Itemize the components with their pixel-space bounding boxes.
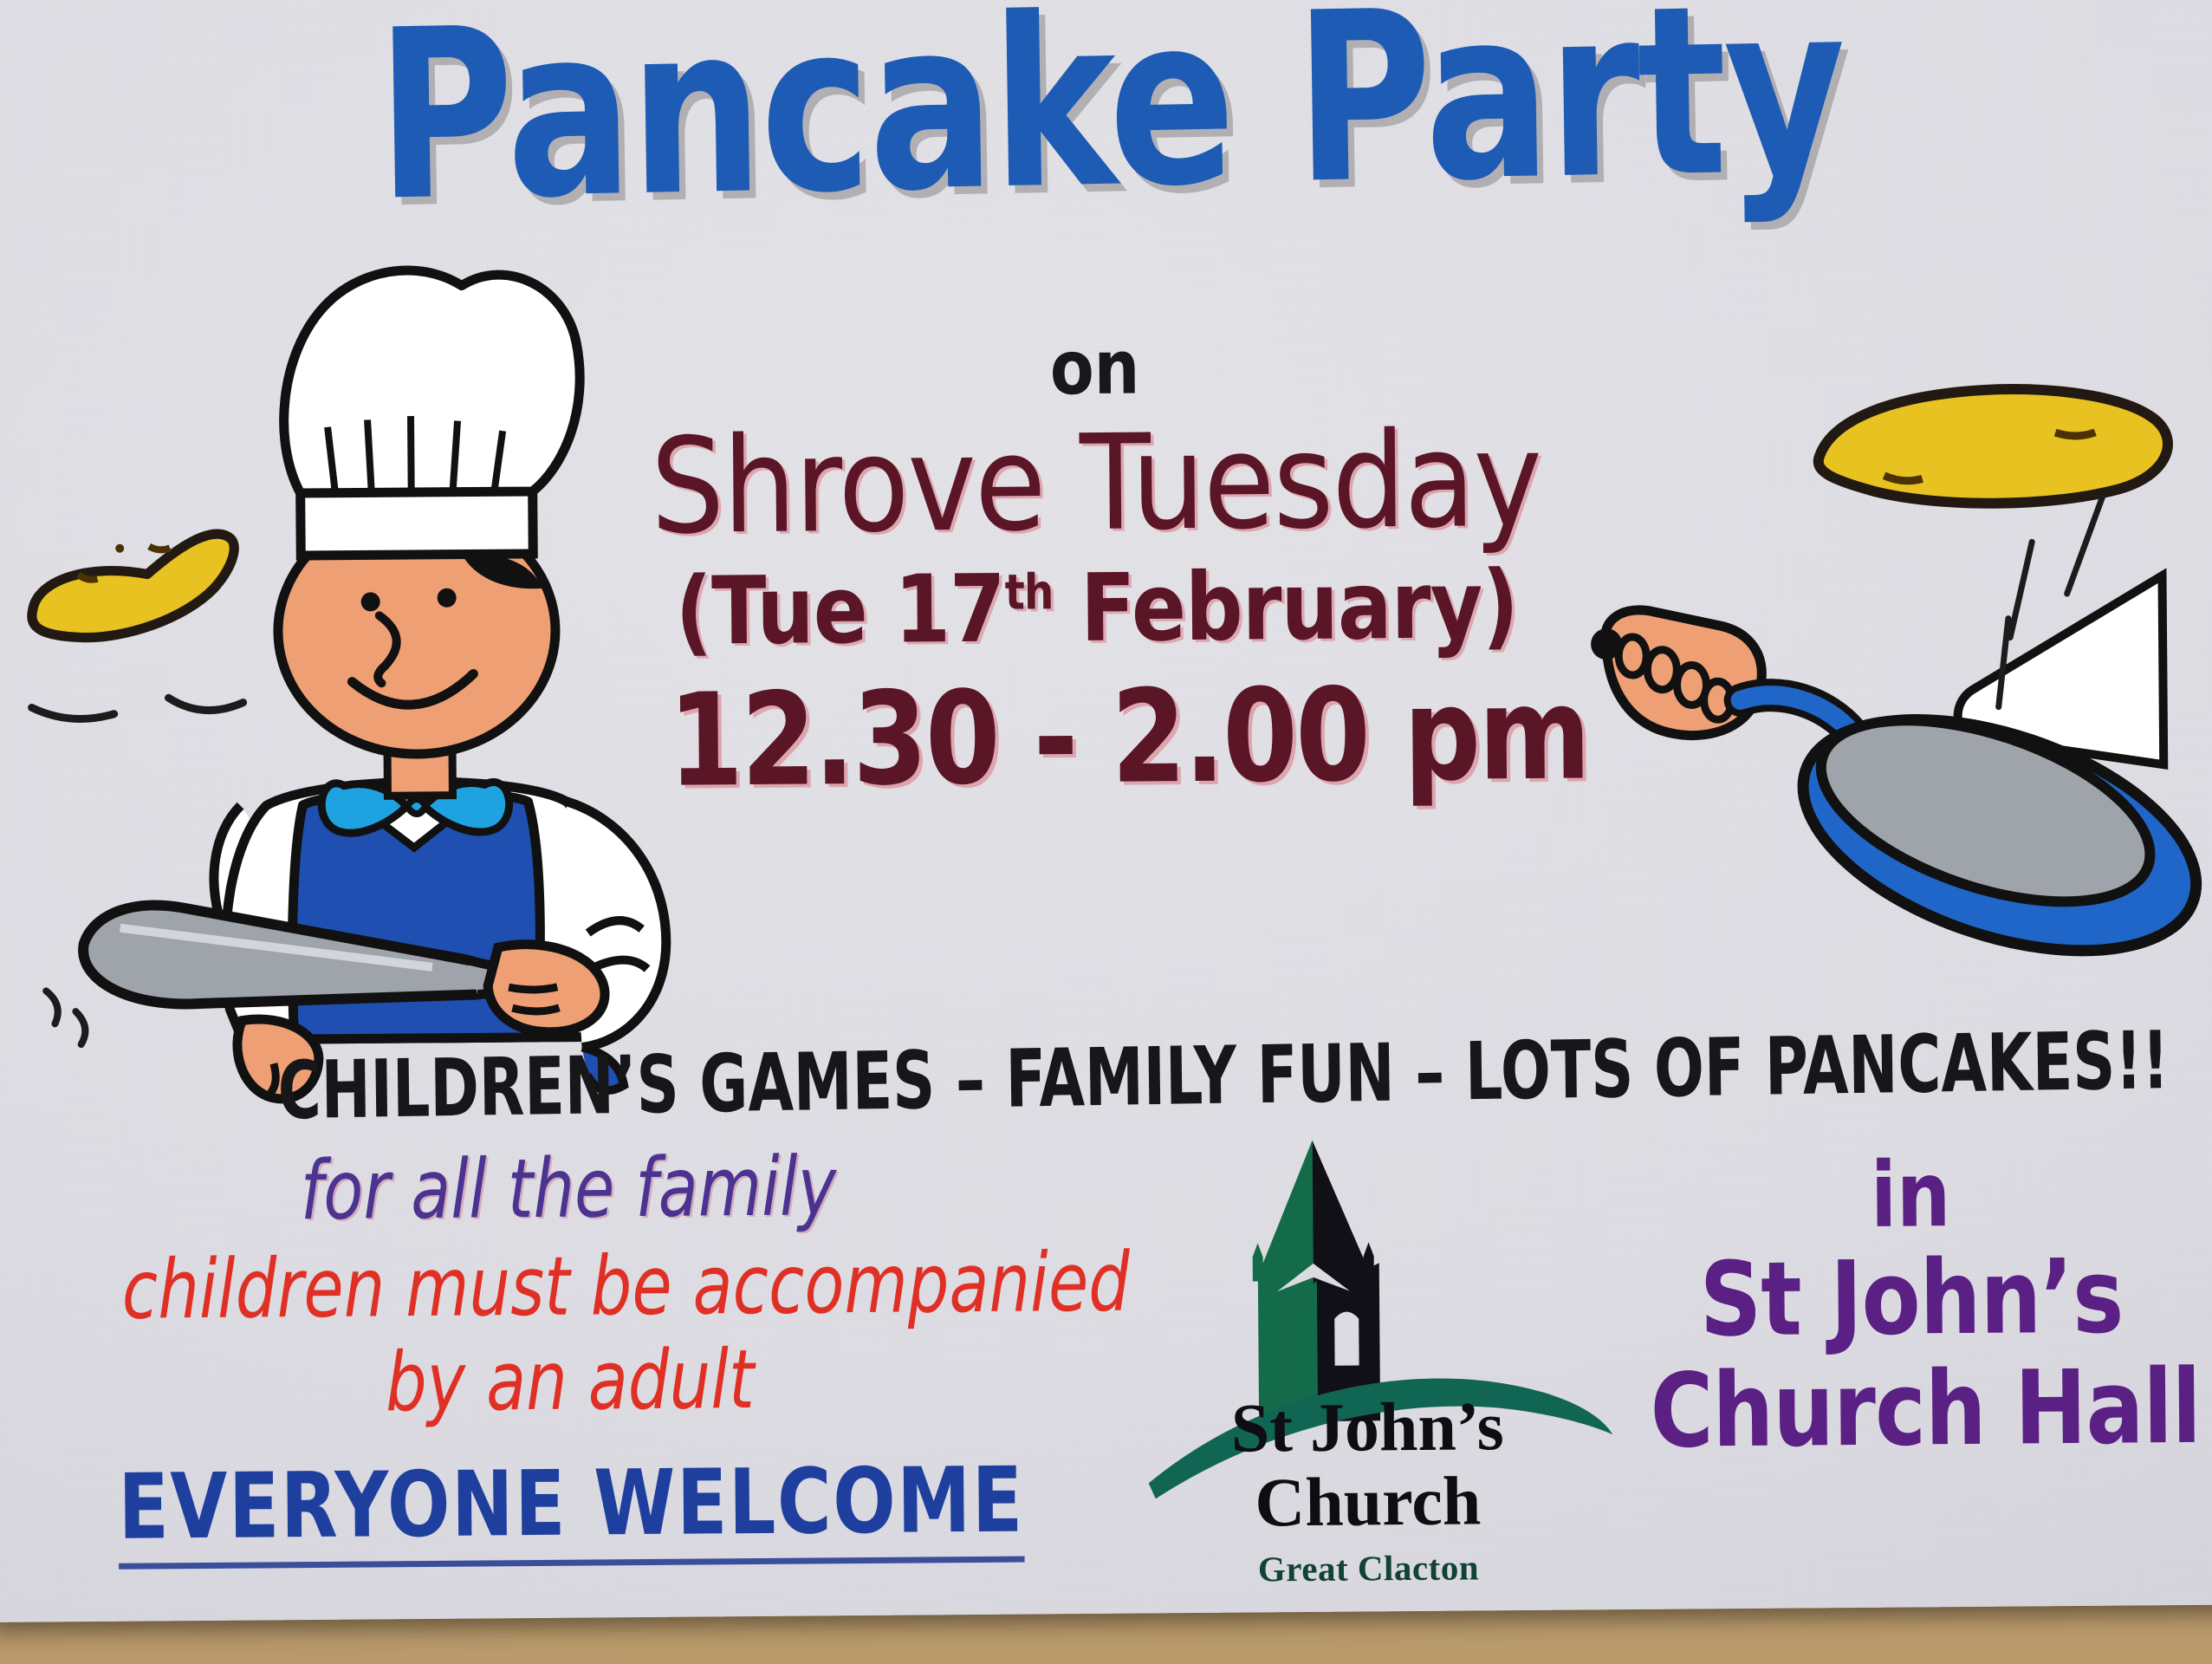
note-for-all-the-family: for all the family xyxy=(121,1140,1016,1239)
everyone-welcome-text: EVERYONE WELCOME xyxy=(118,1447,1024,1570)
note-by-an-adult: by an adult xyxy=(122,1332,1017,1432)
poster-photograph: Pancake Party on Shrove Tuesday (Tue 17t… xyxy=(0,0,2212,1664)
event-day: Shrove Tuesday xyxy=(645,411,1547,556)
venue-line-1: St John’s xyxy=(1649,1241,2174,1355)
logo-name-line1: St John’s xyxy=(1146,1391,1589,1464)
st-johns-church-logo: St John’s Church Great Clacton xyxy=(1145,1131,1590,1568)
logo-location: Great Clacton xyxy=(1147,1545,1589,1590)
event-date-tail: February) xyxy=(1053,551,1518,663)
event-date-ordinal: th xyxy=(1004,564,1053,621)
audience-notes-block: for all the family children must be acco… xyxy=(10,1139,1131,1571)
venue-block: in St John’s Church Hall xyxy=(1648,1144,2175,1466)
tossed-pancake-icon xyxy=(1818,388,2168,505)
tossing-hand-illustration xyxy=(1589,387,2212,1000)
flipping-pancake-icon xyxy=(30,534,243,719)
logo-name-line2: Church xyxy=(1147,1466,1590,1538)
event-details-block: on Shrove Tuesday (Tue 17th February) 12… xyxy=(583,327,1609,809)
poster-paper-sheet: Pancake Party on Shrove Tuesday (Tue 17t… xyxy=(0,0,2212,1622)
event-time: 12.30 - 2.00 pm xyxy=(668,667,1528,809)
chef-illustration xyxy=(41,269,667,1101)
event-date: (Tue 17th February) xyxy=(657,554,1537,664)
page-title: Pancake Party xyxy=(200,0,2020,237)
venue-preposition: in xyxy=(1648,1144,2173,1245)
note-must-be-accompanied: children must be accompanied xyxy=(122,1238,1017,1337)
venue-line-2: Church Hall xyxy=(1650,1352,2175,1466)
connector-word: on xyxy=(655,328,1534,409)
event-date-main: (Tue 17 xyxy=(675,555,1005,666)
